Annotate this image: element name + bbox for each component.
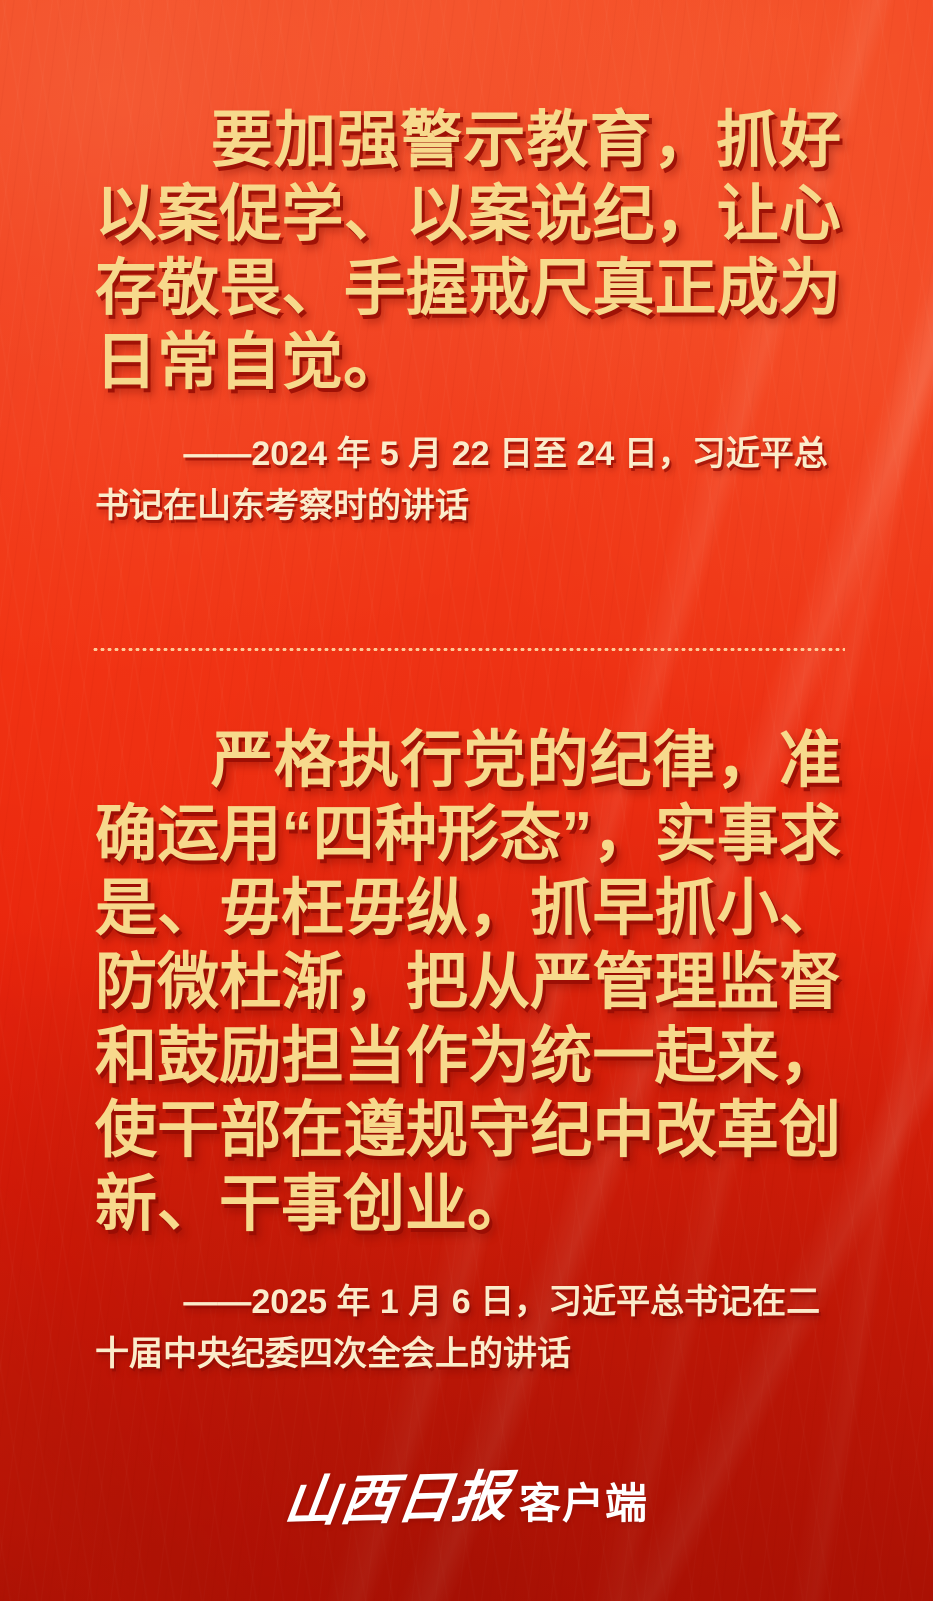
quote-2-source-text: ——2025 年 1 月 6 日，习近平总书记在二十届中央纪委四次全会上的讲话 — [95, 1283, 820, 1373]
quote-block-2: 严格执行党的纪律，准确运用“四种形态”，实事求是、毋枉毋纵，抓早抓小、防微杜渐，… — [0, 724, 933, 1380]
quote-1-gap — [0, 400, 933, 428]
quote-1-source: ——2024 年 5 月 22 日至 24 日，习近平总书记在山东考察时的讲话 — [0, 428, 933, 532]
quote-2-text: 严格执行党的纪律，准确运用“四种形态”，实事求是、毋枉毋纵，抓早抓小、防微杜渐，… — [0, 724, 933, 1242]
footer-brand: 山西日报 客户端 — [0, 1472, 933, 1527]
quote-2-source: ——2025 年 1 月 6 日，习近平总书记在二十届中央纪委四次全会上的讲话 — [0, 1276, 933, 1380]
app-client-label: 客户端 — [519, 1483, 648, 1525]
shanxi-daily-logo: 山西日报 — [281, 1469, 513, 1530]
quote-1-source-text: ——2024 年 5 月 22 日至 24 日，习近平总书记在山东考察时的讲话 — [95, 435, 828, 525]
quote-1-text: 要加强警示教育，抓好以案促学、以案说纪，让心存敬畏、手握戒尺真正成为日常自觉。 — [0, 104, 933, 400]
poster-content: 要加强警示教育，抓好以案促学、以案说纪，让心存敬畏、手握戒尺真正成为日常自觉。 … — [0, 0, 933, 1601]
quote-2-gap — [0, 1242, 933, 1276]
quote-2-body: 严格执行党的纪律，准确运用“四种形态”，实事求是、毋枉毋纵，抓早抓小、防微杜渐，… — [95, 726, 841, 1239]
quote-1-body: 要加强警示教育，抓好以案促学、以案说纪，让心存敬畏、手握戒尺真正成为日常自觉。 — [95, 106, 841, 397]
quote-block-1: 要加强警示教育，抓好以案促学、以案说纪，让心存敬畏、手握戒尺真正成为日常自觉。 … — [0, 104, 933, 532]
poster-root: 要加强警示教育，抓好以案促学、以案说纪，让心存敬畏、手握戒尺真正成为日常自觉。 … — [0, 0, 933, 1601]
section-divider — [92, 648, 845, 651]
